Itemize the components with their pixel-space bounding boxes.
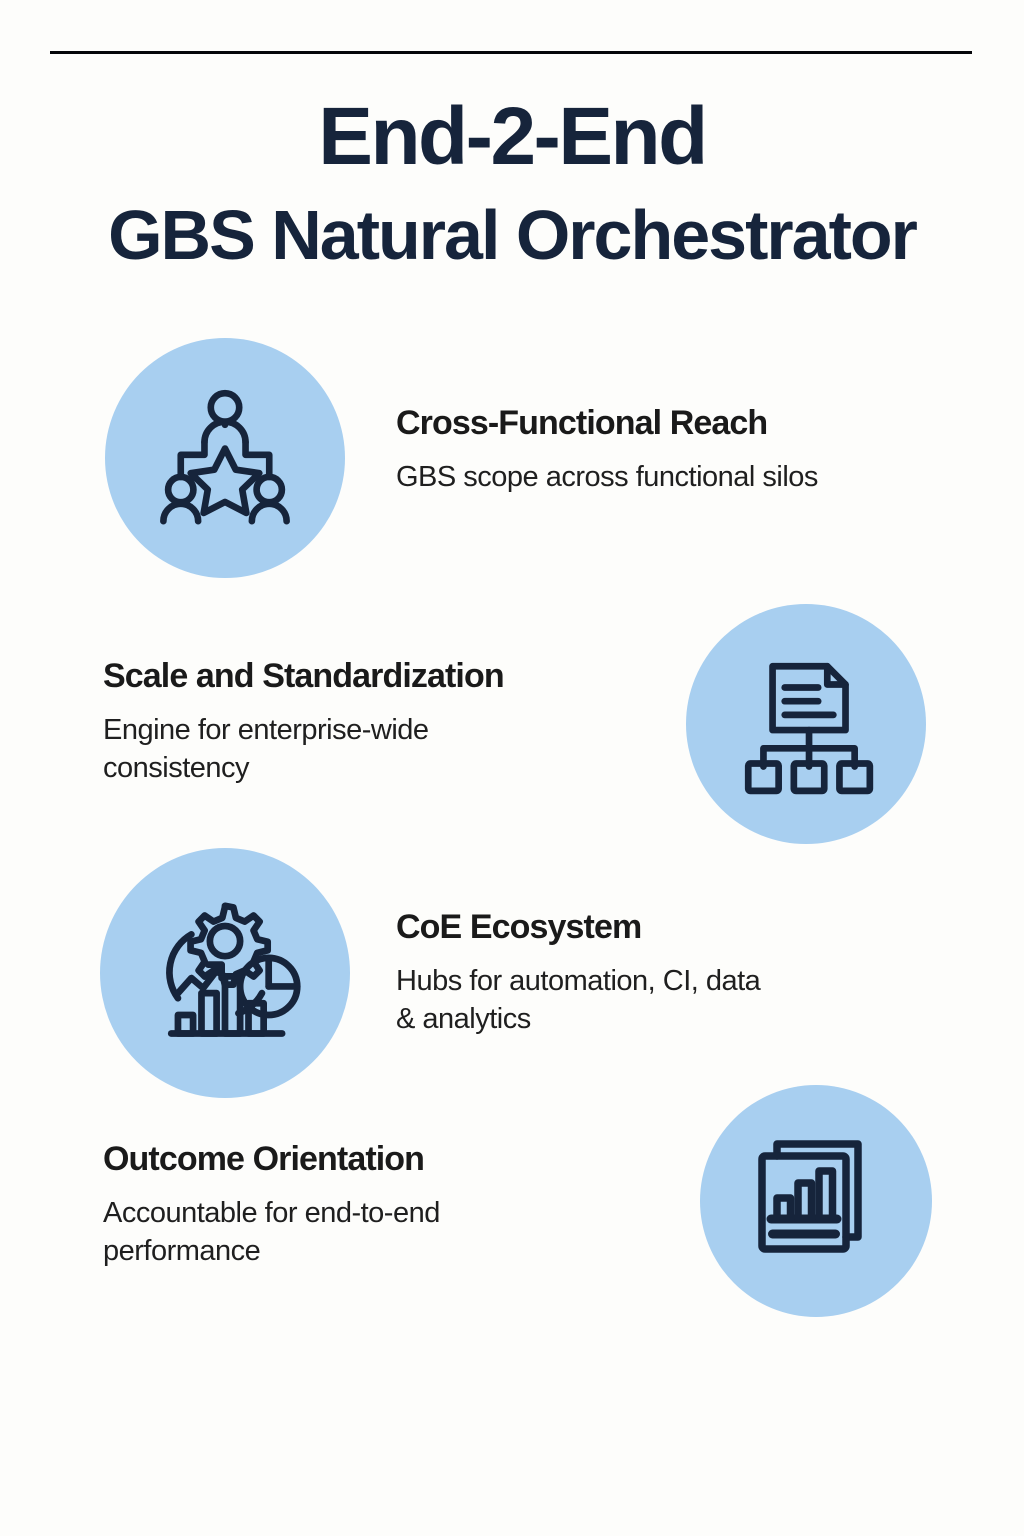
header-divider xyxy=(50,51,972,54)
feature-1-description: GBS scope across functional silos xyxy=(396,458,956,496)
title-line-1: End-2-End xyxy=(0,96,1024,178)
feature-2-icon-badge xyxy=(686,604,926,844)
feature-2-description: Engine for enterprise-wide consistency xyxy=(103,711,663,788)
feature-2-title: Scale and Standardization xyxy=(103,657,663,695)
document-org-chart-icon xyxy=(730,648,882,800)
infographic-page: End-2-End GBS Natural Orchestrator Cross… xyxy=(0,0,1024,1536)
feature-4-description: Accountable for end-to-end performance xyxy=(103,1194,623,1271)
feature-1-icon-badge xyxy=(105,338,345,578)
feature-4-title: Outcome Orientation xyxy=(103,1140,623,1178)
feature-1-text: Cross-Functional Reach GBS scope across … xyxy=(396,404,956,496)
feature-2-text: Scale and Standardization Engine for ent… xyxy=(103,657,663,788)
page-title: End-2-End GBS Natural Orchestrator xyxy=(0,96,1024,270)
feature-4-icon-badge xyxy=(700,1085,932,1317)
title-line-2: GBS Natural Orchestrator xyxy=(0,200,1024,270)
feature-3-icon-badge xyxy=(100,848,350,1098)
feature-4-text: Outcome Orientation Accountable for end-… xyxy=(103,1140,623,1271)
feature-1-title: Cross-Functional Reach xyxy=(396,404,956,442)
team-hierarchy-star-icon xyxy=(146,379,304,537)
gear-analytics-charts-icon xyxy=(141,889,309,1057)
feature-3-description: Hubs for automation, CI, data & analytic… xyxy=(396,962,916,1039)
feature-3-title: CoE Ecosystem xyxy=(396,908,916,946)
feature-3-text: CoE Ecosystem Hubs for automation, CI, d… xyxy=(396,908,916,1039)
stacked-reports-bar-chart-icon xyxy=(741,1126,891,1276)
